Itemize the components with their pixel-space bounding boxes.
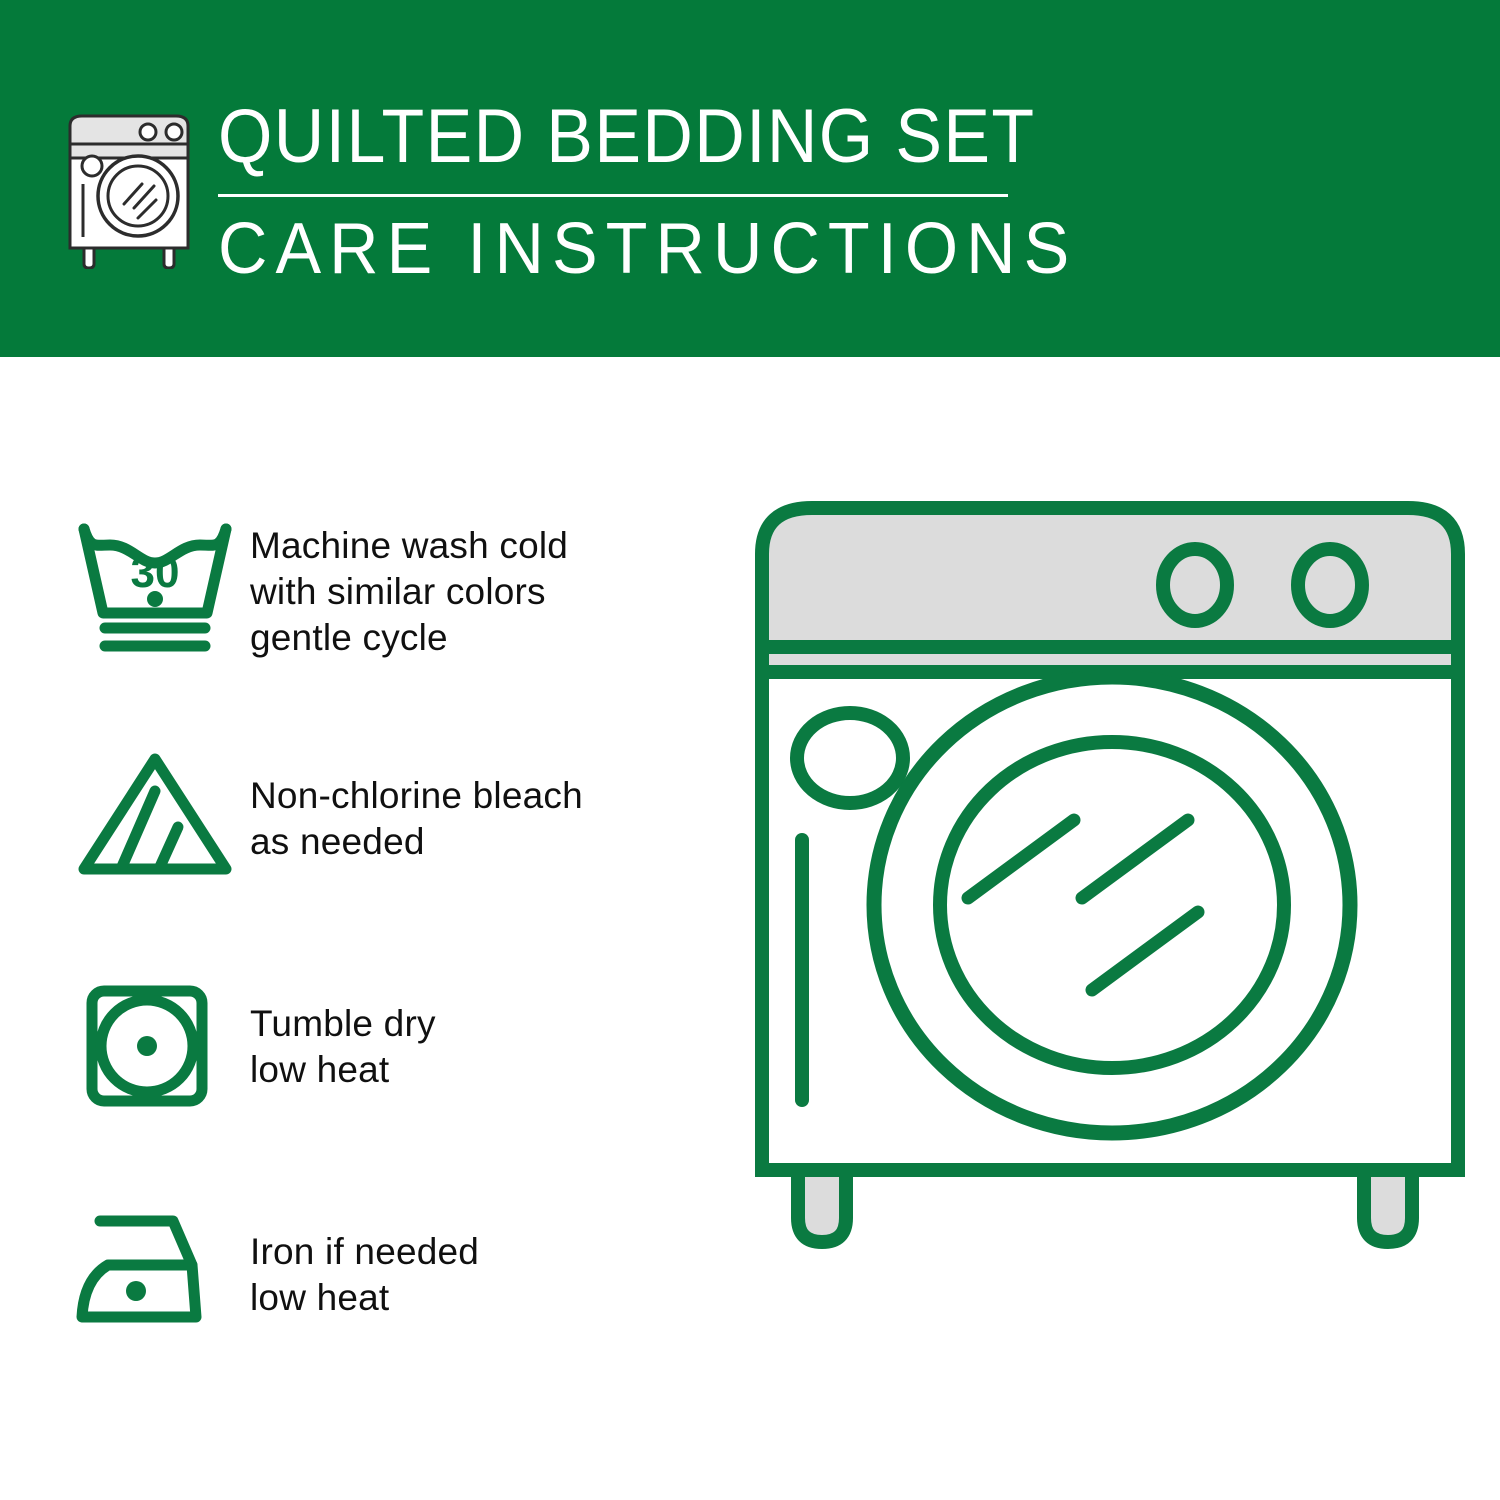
list-item-machine-wash: 30 Machine wash cold with similar colors… [70, 505, 710, 735]
page-title: QUILTED BEDDING SET [218, 96, 954, 178]
knob-right [1298, 549, 1362, 621]
leg-left [798, 1170, 846, 1242]
washing-machine-illustration [740, 490, 1480, 1430]
list-item-iron: Iron if needed low heat [70, 1195, 710, 1425]
washing-machine-icon [62, 104, 202, 269]
knob-left [1163, 549, 1227, 621]
bleach-triangle-icon [70, 735, 250, 885]
page-subtitle: CARE INSTRUCTIONS [218, 211, 978, 287]
header-band: QUILTED BEDDING SET CARE INSTRUCTIONS [0, 0, 1500, 357]
list-item-label: Machine wash cold with similar colors ge… [250, 505, 710, 661]
care-instruction-list: 30 Machine wash cold with similar colors… [70, 505, 710, 1425]
list-item-tumble-dry: Tumble dry low heat [70, 965, 710, 1195]
header-text-block: QUILTED BEDDING SET CARE INSTRUCTIONS [218, 96, 1018, 287]
tumble-dry-icon [70, 965, 250, 1115]
iron-icon [70, 1195, 250, 1345]
list-item-bleach: Non-chlorine bleach as needed [70, 735, 710, 965]
list-item-label: Iron if needed low heat [250, 1195, 710, 1321]
svg-text:30: 30 [131, 548, 180, 597]
leg-right [1364, 1170, 1412, 1242]
list-item-label: Tumble dry low heat [250, 965, 710, 1093]
indicator-light [797, 713, 903, 803]
wash-tub-30-icon: 30 [70, 505, 250, 655]
drum-inner-ring [940, 742, 1284, 1068]
title-divider [218, 194, 1008, 197]
list-item-label: Non-chlorine bleach as needed [250, 735, 710, 865]
